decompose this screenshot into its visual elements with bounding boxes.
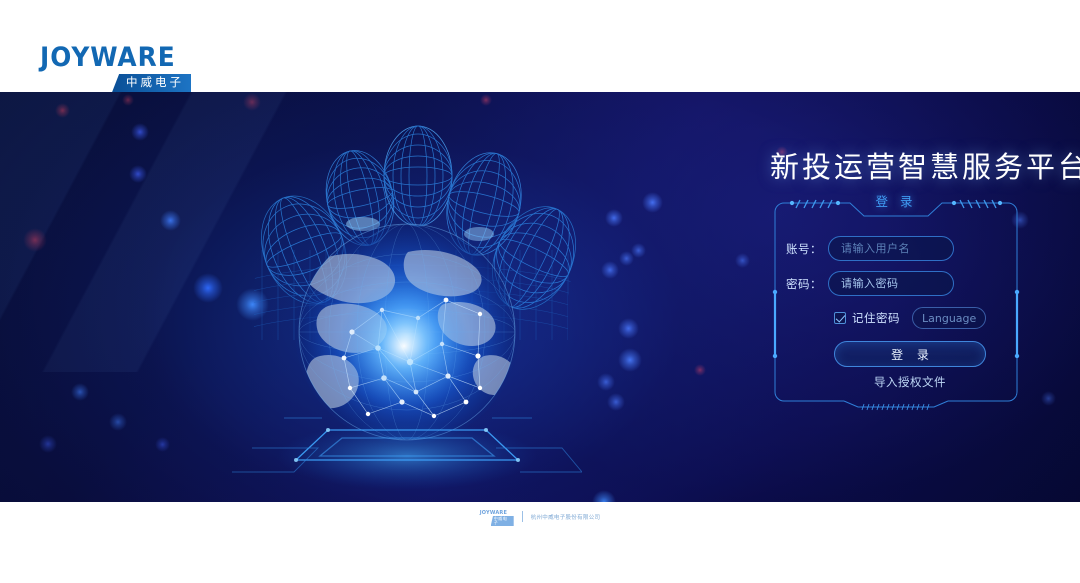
background-particle (155, 437, 170, 452)
background-particle (618, 348, 642, 372)
background-particle (193, 273, 223, 303)
hero-section: 新投运营智慧服务平台 (0, 92, 1080, 502)
panel-title: 登 录 (772, 191, 1020, 210)
remember-password-label: 记住密码 (852, 310, 900, 326)
background-particle (160, 210, 181, 231)
wireframe-gear-globe-illustration (232, 100, 582, 500)
background-particle (735, 253, 750, 268)
options-row: 记住密码 Language (834, 306, 1020, 330)
password-input[interactable] (828, 271, 954, 296)
background-particle (71, 383, 89, 401)
footer-divider (522, 511, 523, 522)
background-particle (592, 490, 616, 502)
background-particle (129, 165, 147, 183)
username-row: 账号： (772, 236, 1020, 261)
background-particle (642, 192, 663, 213)
background-particle (597, 373, 615, 391)
background-particle (631, 243, 646, 258)
background-particle (122, 94, 134, 106)
background-particle (619, 251, 634, 266)
username-label: 账号： (772, 241, 828, 257)
username-input[interactable] (828, 236, 954, 261)
background-particle (694, 364, 706, 376)
page-footer: JOYWARE 中威电子 杭州中威电子股份有限公司 (0, 502, 1080, 583)
remember-password-checkbox[interactable] (834, 312, 846, 324)
footer-brand-badge: 中威电子 (491, 516, 514, 526)
background-particle (109, 413, 127, 431)
login-area: 新投运营智慧服务平台 (758, 144, 1070, 484)
login-panel: 登 录 账号： 密码： 记住密码 Language 登 录 (772, 200, 1020, 410)
password-row: 密码： (772, 271, 1020, 296)
page-header: JOYWARE 中威电子 (0, 0, 1080, 92)
brand-badge: 中威电子 (112, 74, 191, 92)
background-particle (607, 393, 625, 411)
language-select[interactable]: Language (912, 307, 986, 329)
background-particle (55, 103, 70, 118)
background-particle (618, 318, 639, 339)
background-particle (23, 228, 47, 252)
brand-wordmark: JOYWARE (40, 44, 213, 71)
background-particle (131, 123, 149, 141)
background-particle (601, 261, 619, 279)
import-auth-file-link[interactable]: 导入授权文件 (834, 374, 986, 390)
login-form: 账号： 密码： 记住密码 Language 登 录 导入授权文件 (772, 236, 1020, 390)
footer-brand-wordmark: JOYWARE (480, 511, 514, 516)
password-label: 密码： (772, 276, 828, 292)
login-submit-button[interactable]: 登 录 (834, 341, 986, 367)
page-title: 新投运营智慧服务平台 (770, 144, 1080, 186)
background-particle (605, 209, 623, 227)
footer-joyware-logo: JOYWARE 中威电子 (480, 511, 514, 522)
joyware-logo[interactable]: JOYWARE 中威电子 (40, 44, 210, 92)
background-particle (39, 435, 57, 453)
footer-company-name: 杭州中威电子股份有限公司 (531, 513, 601, 521)
